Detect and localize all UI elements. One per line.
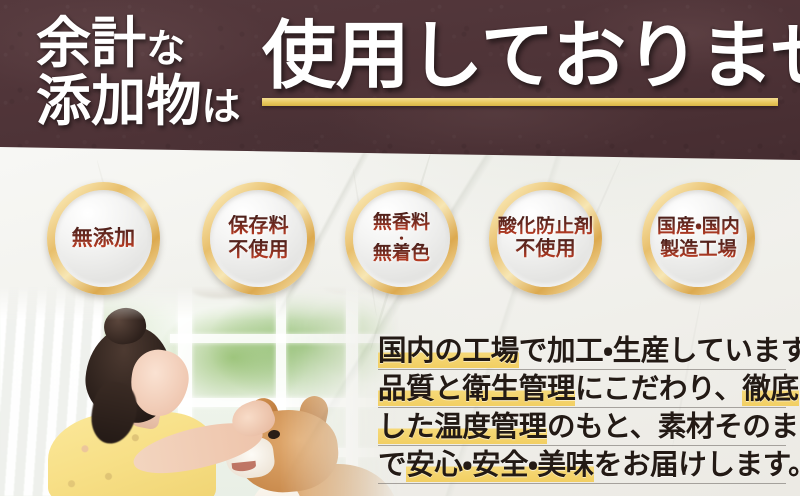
heading-tenkabutsu: 添加物 [36, 71, 201, 132]
badge-inner: 国産・国内 製造工場 [650, 190, 747, 287]
badge-label: 国産・国内 [657, 216, 740, 238]
plain-phrase: をお届けします。 [594, 450, 800, 481]
header-main-heading: 使用しておりません [262, 20, 800, 94]
badge-label: 不使用 [515, 238, 576, 262]
badge-label: 無着色 [373, 243, 430, 265]
badge-inner: 保存料 不使用 [210, 190, 307, 287]
badge-kokusan-kokunai[interactable]: 国産・国内 製造工場 [642, 182, 755, 295]
copy-line: で安心・安全・美味をお届けします。 [378, 446, 786, 484]
highlighted-phrase: した温度管理 [378, 412, 547, 444]
badge-inner: 無香料 ・ 無着色 [353, 190, 450, 287]
copy-line: 品質と衛生管理にこだわり、徹底 [378, 370, 786, 408]
badge-label: 不使用 [228, 239, 289, 263]
heading-na: な [146, 28, 185, 71]
header-underline-bar [262, 98, 778, 106]
heading-wa: は [201, 86, 240, 129]
copy-line-text: 品質と衛生管理にこだわり、徹底 [378, 376, 799, 405]
copy-line: 国内の工場で加工・生産しています。 [378, 332, 786, 370]
plain-phrase: にこだわり、 [575, 374, 742, 405]
badge-mutenka[interactable]: 無添加 [47, 182, 160, 295]
badge-mukoryo[interactable]: 無香料 ・ 無着色 [345, 182, 458, 295]
window-mullion [170, 398, 402, 407]
header-left-heading: 余計な 添加物は [36, 16, 266, 129]
highlighted-phrase: 国内の工場 [378, 336, 519, 368]
badge-label: 無添加 [72, 226, 136, 251]
highlighted-phrase: 安心・安全・美味 [406, 450, 594, 482]
badge-label: 保存料 [228, 215, 289, 239]
plain-phrase: で加工・生産しています。 [519, 336, 800, 367]
copy-line-text: した温度管理のもと、素材そのまま [378, 414, 800, 443]
window-mullion [170, 334, 402, 343]
plain-phrase: のもと、素材そのまま [547, 412, 800, 443]
badge-inner: 酸化防止剤 不使用 [497, 190, 594, 287]
body-copy: 国内の工場で加工・生産しています。 品質と衛生管理にこだわり、徹底 した温度管理… [378, 332, 786, 484]
highlighted-phrase: 品質と衛生管理 [378, 374, 575, 406]
badge-label: 酸化防止剤 [498, 216, 593, 238]
lifestyle-photo [0, 286, 402, 496]
copy-line-text: で安心・安全・美味をお届けします。 [378, 452, 800, 481]
badge-inner: 無添加 [55, 190, 152, 287]
badge-sankaboshizai[interactable]: 酸化防止剤 不使用 [489, 182, 602, 295]
badge-hozonryo[interactable]: 保存料 不使用 [202, 182, 315, 295]
highlighted-phrase: 徹底 [742, 374, 798, 406]
copy-line: した温度管理のもと、素材そのまま [378, 408, 786, 446]
badge-separator: ・ [395, 234, 408, 243]
promo-banner: 余計な 添加物は 使用しておりません 無添加 保存料 不使用 無香料 ・ 無着色… [0, 0, 800, 496]
heading-yokei: 余計 [36, 13, 146, 74]
copy-line-text: 国内の工場で加工・生産しています。 [378, 338, 800, 367]
badge-label: 製造工場 [660, 239, 736, 261]
plain-phrase: で [378, 450, 406, 481]
